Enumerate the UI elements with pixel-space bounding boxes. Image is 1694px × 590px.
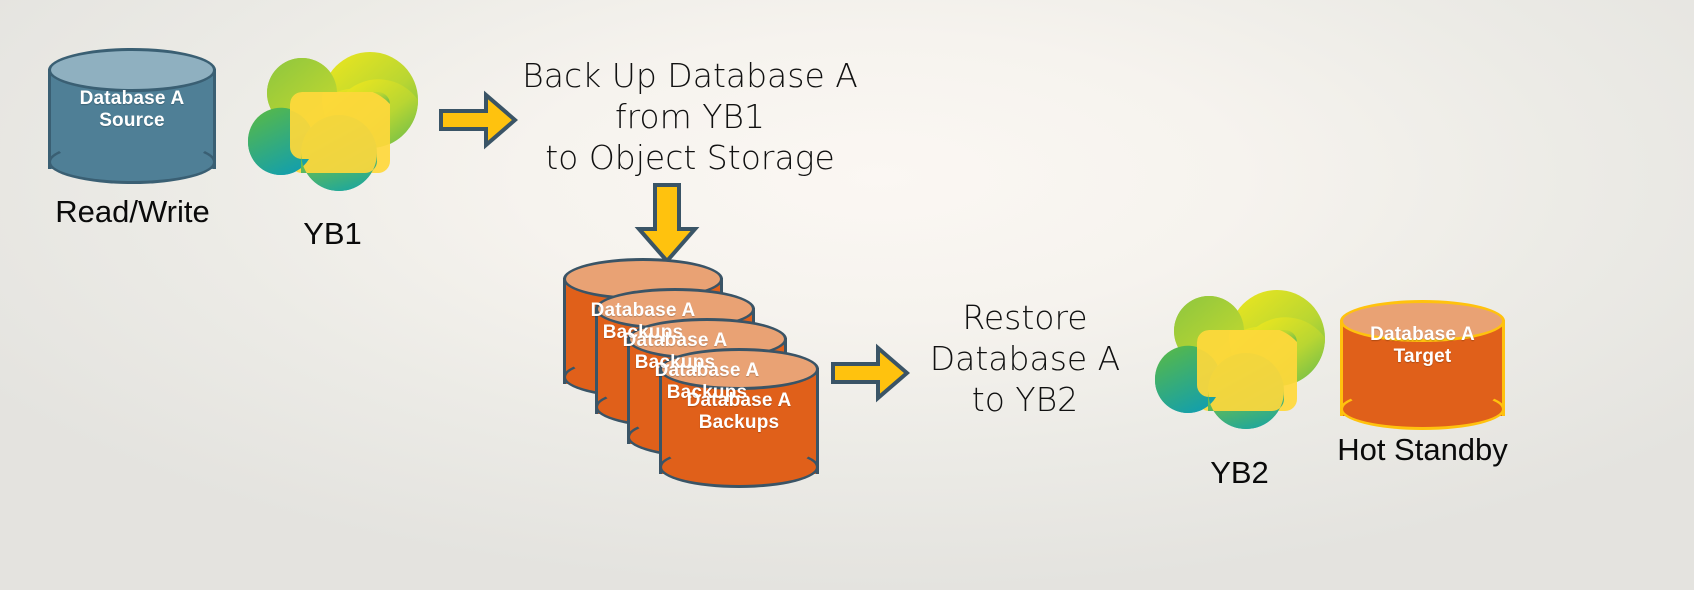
restore-step-text: Restore Database A to YB2 — [920, 298, 1130, 421]
arrow-right-restore — [830, 343, 910, 403]
cylinder-top — [659, 348, 819, 390]
cylinder-top — [1340, 300, 1505, 342]
source-database-cylinder: Database A Source — [48, 48, 216, 188]
yb2-cluster-logo — [1152, 290, 1327, 435]
source-caption: Read/Write — [10, 194, 255, 230]
yb1-caption: YB1 — [245, 216, 420, 252]
yugabytedb-logo-icon — [1152, 290, 1327, 435]
cylinder-bottom — [48, 140, 216, 184]
cylinder-bottom — [659, 446, 819, 488]
target-caption: Hot Standby — [1300, 432, 1545, 468]
backup-cylinder-4: Database A Backups — [659, 348, 819, 496]
yb1-cluster-logo — [245, 52, 420, 197]
cylinder-top — [48, 48, 216, 92]
cylinder-bottom — [1340, 388, 1505, 430]
target-database-cylinder: Database A Target — [1340, 300, 1505, 436]
arrow-down-to-storage — [634, 182, 700, 264]
backup-step-text: Back Up Database A from YB1 to Object St… — [500, 56, 880, 179]
diagram-canvas: Database A Source Read/Write — [0, 0, 1694, 590]
yugabytedb-logo-icon — [245, 52, 420, 197]
